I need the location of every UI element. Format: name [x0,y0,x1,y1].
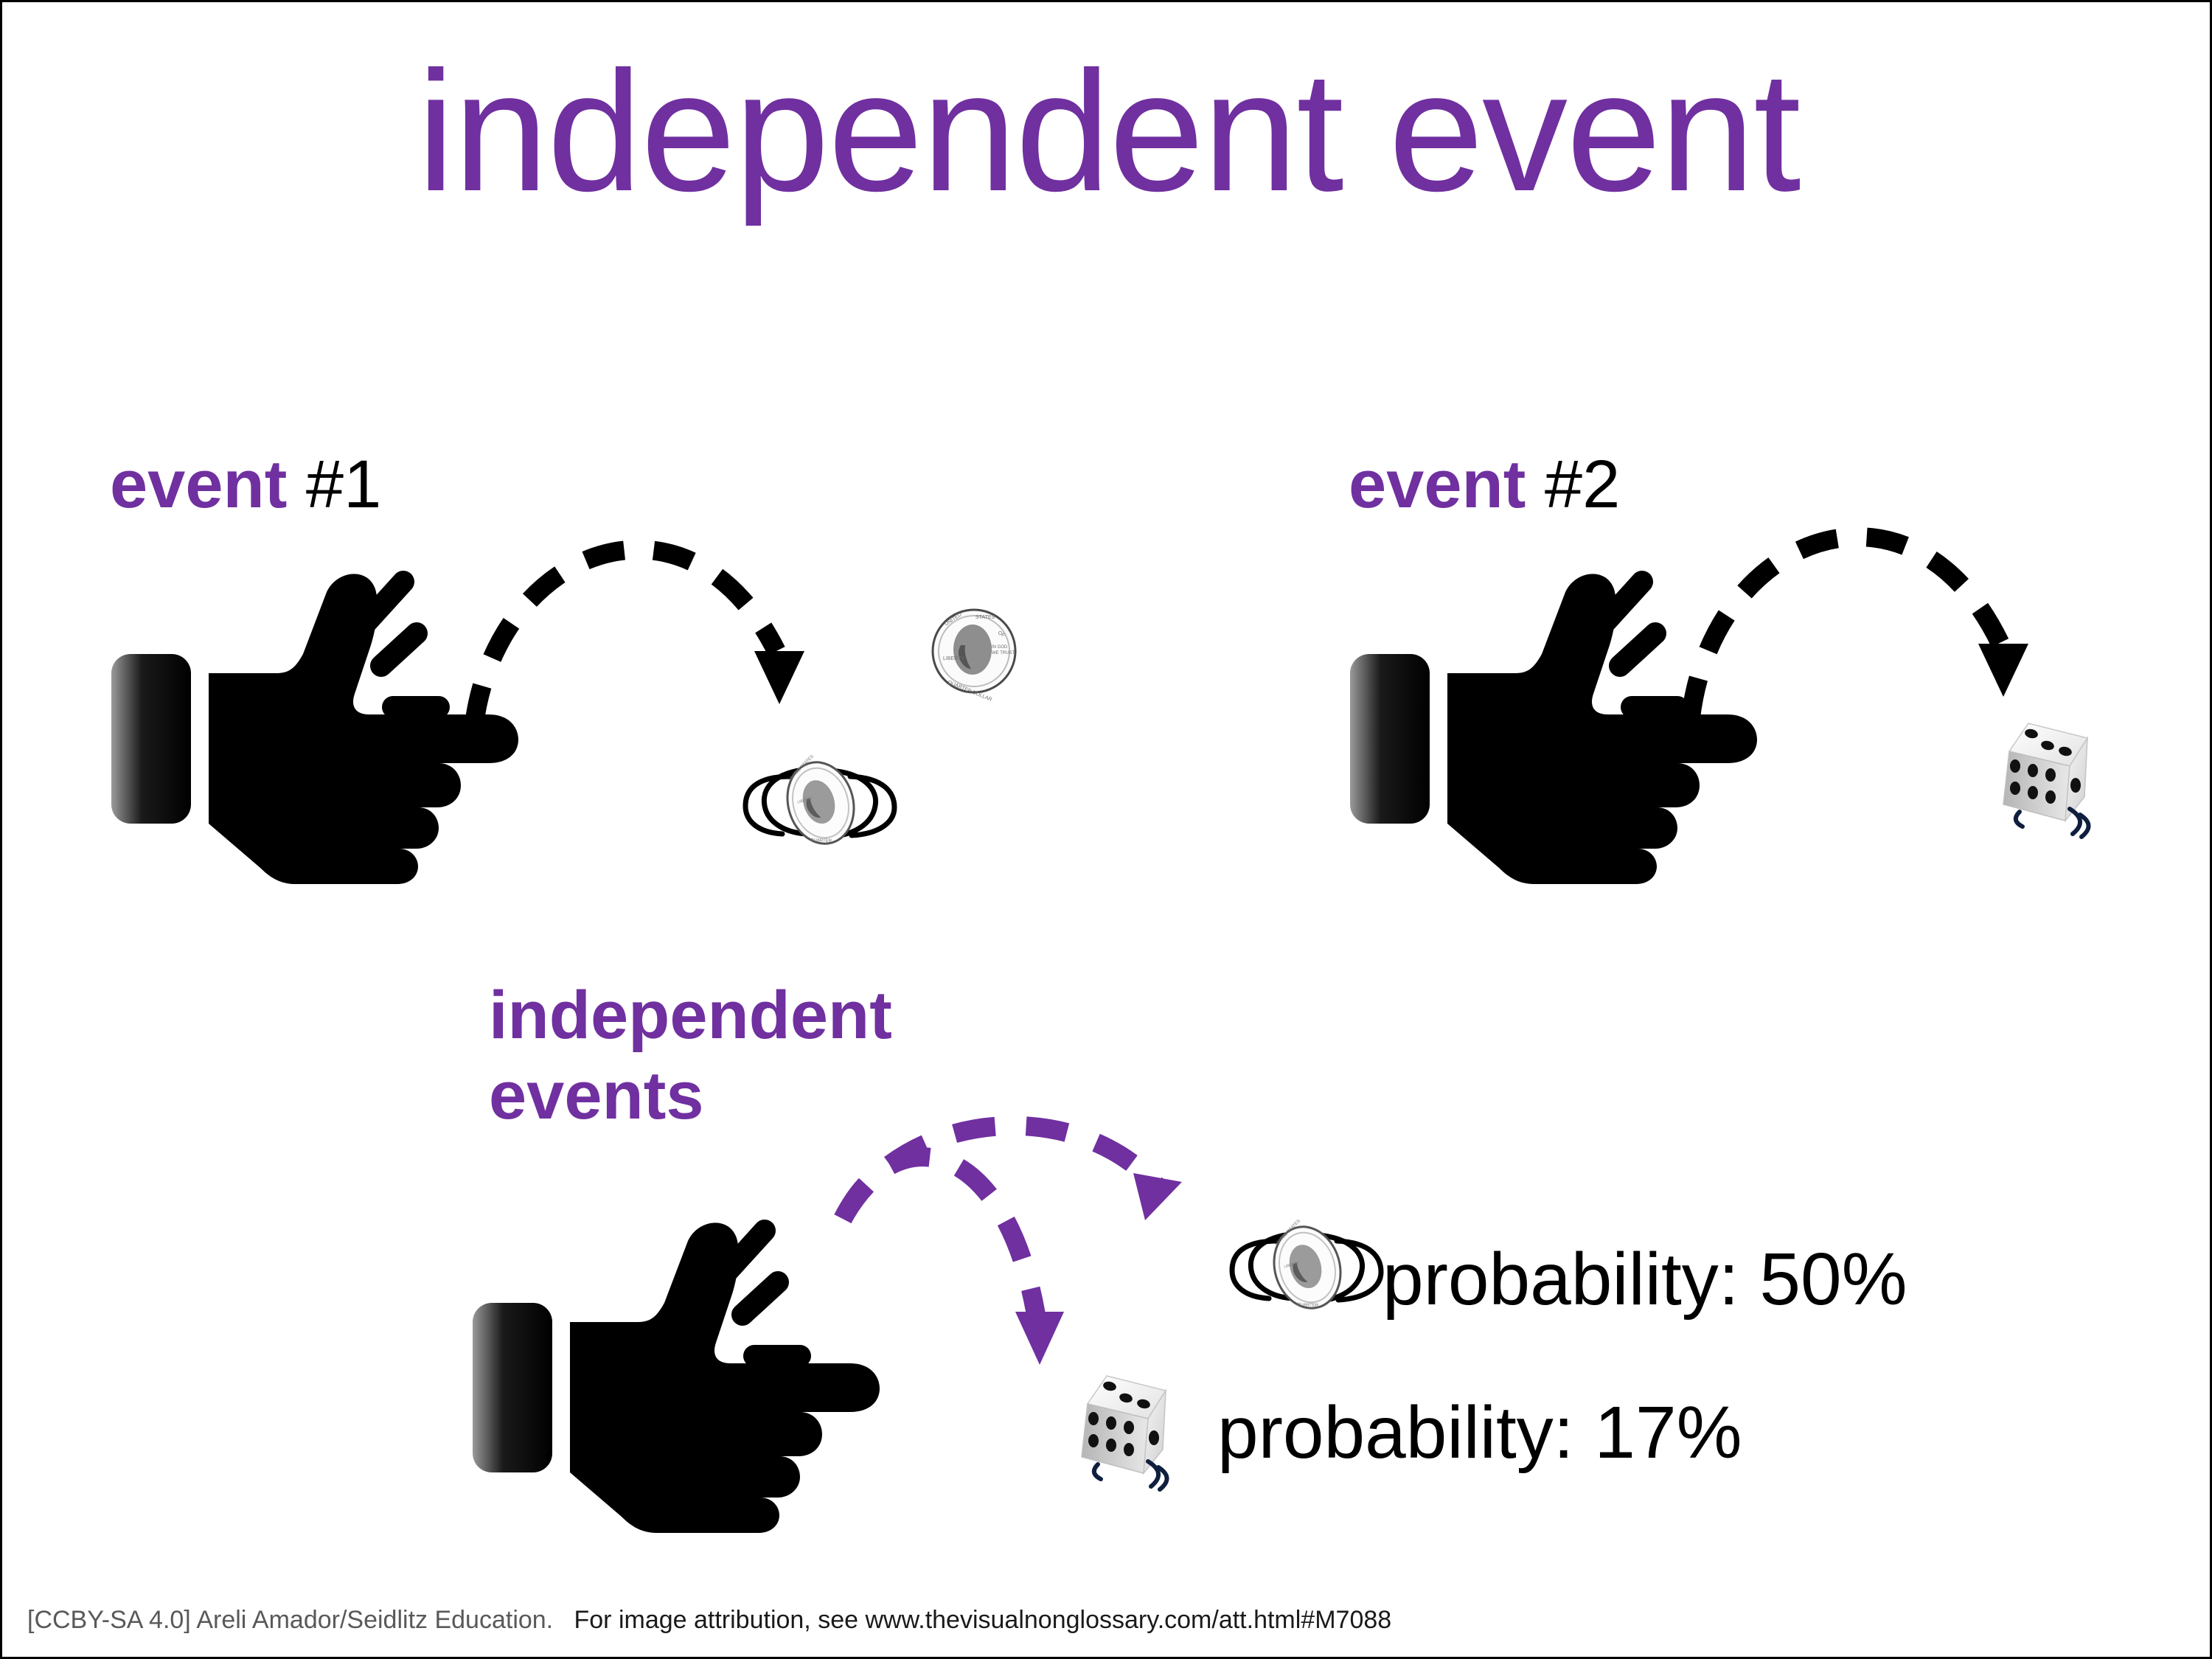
svg-text:QUARTER: QUARTER [1297,1303,1319,1308]
dashed-curved-arrow-icon [467,430,850,754]
footer-license: [CCBY-SA 4.0] [27,1606,191,1634]
event-1-keyword: event [110,447,287,522]
spinning-coin-icon: UNITED STATES LIBERTY QUARTER [1226,1211,1388,1329]
rolling-die-icon [1993,717,2133,850]
svg-text:STATES: STATES [975,615,995,620]
page-title: independent event [2,46,2212,218]
event-2-number: #2 [1545,447,1620,522]
footer-notice: For image attribution, see www.thevisual… [574,1606,1392,1634]
event-2-keyword: event [1349,447,1526,522]
slide-canvas: independent event event #1 [0,0,2212,1659]
event-1-label: event #1 [110,451,381,518]
svg-text:WE TRUST: WE TRUST [992,651,1015,655]
attribution-footer: [CCBY-SA 4.0] Areli Amador/Seidlitz Educ… [27,1606,1391,1635]
independent-events-label: independentevents [489,975,892,1135]
spinning-coin-icon: UNITED STATES LIBERTY QUARTER [740,747,902,865]
quarter-coin-icon: UNITED STATES OF LIBERTY IN GOD WE TRUST… [930,607,1018,695]
svg-text:IN GOD: IN GOD [992,645,1008,650]
svg-text:QUARTER: QUARTER [810,838,832,844]
probability-dice-text: probability: 17% [1217,1396,1742,1470]
independent-events-line1: independent [489,978,892,1053]
footer-attribution: Areli Amador/Seidlitz Education. [196,1606,553,1634]
svg-text:LIBERTY: LIBERTY [943,656,964,661]
rolling-die-icon [1071,1370,1211,1503]
event-1-number: #1 [306,447,381,522]
probability-coin-text: probability: 50% [1382,1242,1907,1316]
independent-events-line2: events [489,1058,704,1133]
dashed-curved-arrow-icon [835,1049,1293,1447]
dashed-curved-arrow-icon [1683,422,2067,762]
event-2-label: event #2 [1349,451,1620,518]
